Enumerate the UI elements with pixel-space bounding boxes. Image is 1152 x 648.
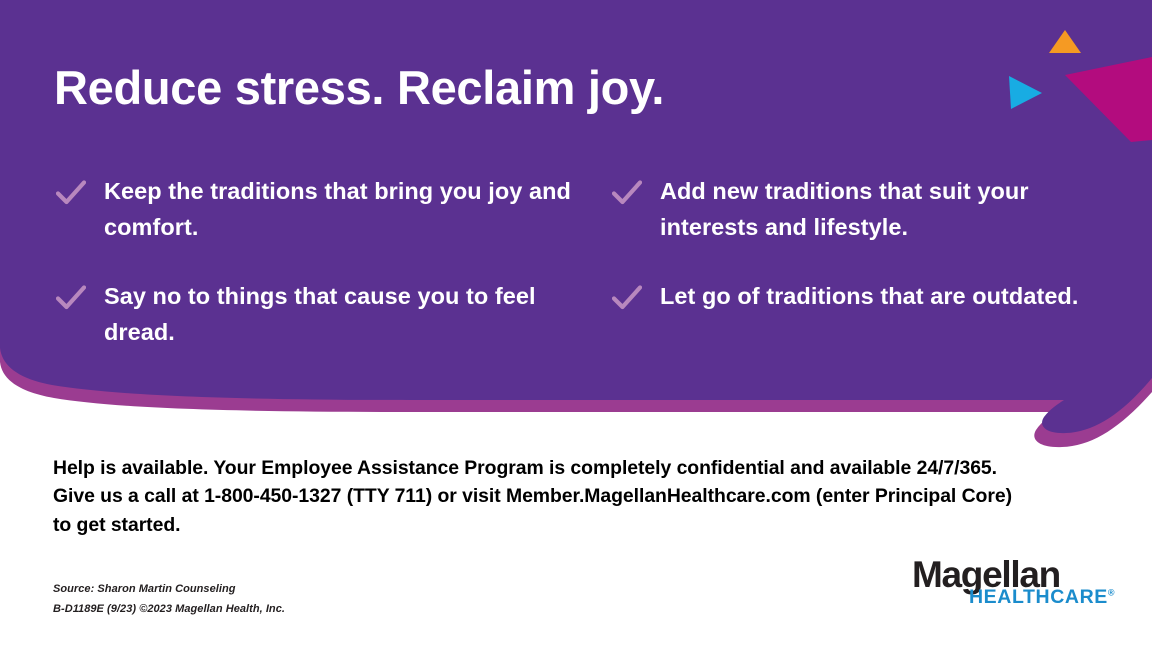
list-item-label: Say no to things that cause you to feel … bbox=[104, 279, 574, 351]
source-line: Source: Sharon Martin Counseling bbox=[53, 580, 285, 600]
logo-subtitle: HEALTHCARE® bbox=[969, 588, 1115, 608]
logo-subtitle-text: HEALTHCARE bbox=[969, 586, 1108, 608]
magellan-healthcare-logo: Magellan HEALTHCARE® bbox=[912, 556, 1104, 612]
list-item: Let go of traditions that are outdated. bbox=[610, 279, 1080, 315]
registered-trademark-icon: ® bbox=[1108, 588, 1115, 598]
list-item-label: Add new traditions that suit your intere… bbox=[660, 174, 1080, 246]
copyright-line: B-D1189E (9/23) ©2023 Magellan Health, I… bbox=[53, 600, 285, 620]
benefits-column-left: Keep the traditions that bring you joy a… bbox=[54, 174, 574, 384]
check-icon bbox=[56, 180, 86, 206]
check-icon bbox=[56, 285, 86, 311]
legal-block: Source: Sharon Martin Counseling B-D1189… bbox=[53, 580, 285, 619]
list-item-label: Keep the traditions that bring you joy a… bbox=[104, 174, 574, 246]
check-icon bbox=[612, 180, 642, 206]
list-item: Add new traditions that suit your intere… bbox=[610, 174, 1080, 246]
slide-canvas: Reduce stress. Reclaim joy. Keep the tra… bbox=[0, 0, 1152, 648]
check-icon bbox=[612, 285, 642, 311]
page-title: Reduce stress. Reclaim joy. bbox=[54, 62, 664, 114]
help-information-text: Help is available. Your Employee Assista… bbox=[53, 454, 1033, 539]
list-item: Say no to things that cause you to feel … bbox=[54, 279, 574, 351]
list-item: Keep the traditions that bring you joy a… bbox=[54, 174, 574, 246]
list-item-label: Let go of traditions that are outdated. bbox=[660, 279, 1080, 315]
benefits-column-right: Add new traditions that suit your intere… bbox=[610, 174, 1080, 348]
